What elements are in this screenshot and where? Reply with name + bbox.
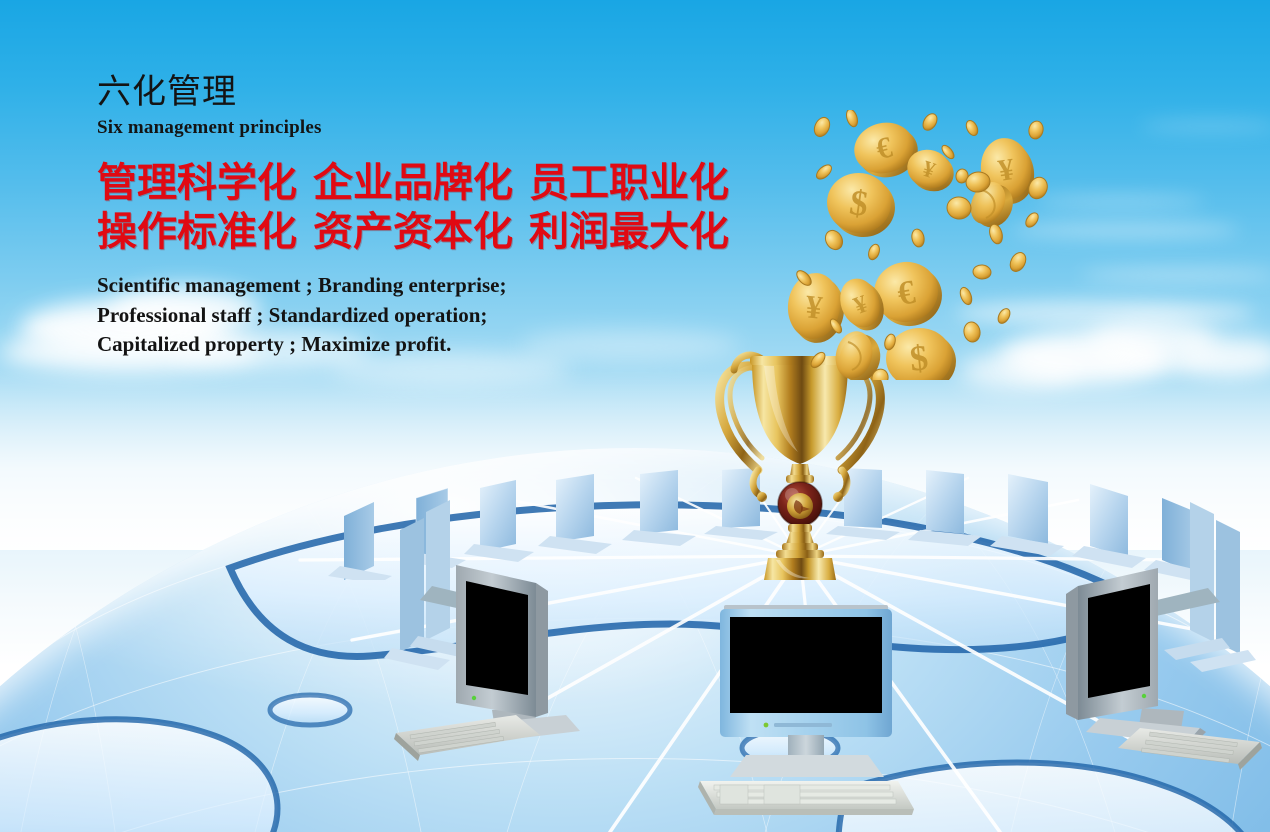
slogan-2-3: 利润最大化 — [529, 210, 729, 254]
slogan-line-2: 操作标准化资产资本化利润最大化 — [97, 208, 737, 257]
heading-english: Six management principles — [97, 117, 737, 139]
right-monitor — [1038, 556, 1270, 786]
power-led — [764, 723, 769, 728]
slogan-1-1: 管理科学化 — [97, 161, 297, 205]
english-line-2: Professional staff ; Standardized operat… — [97, 301, 737, 331]
slogan-2-2: 资产资本化 — [313, 210, 513, 254]
slogan-1-2: 企业品牌化 — [313, 161, 513, 205]
center-monitor — [690, 595, 920, 832]
poster-canvas: € ¥ ¥ $ € ¥ — [0, 0, 1270, 832]
control-strip — [774, 723, 832, 727]
english-line-3: Capitalized property ; Maximize profit. — [97, 330, 737, 360]
monitor-screen — [1088, 584, 1150, 698]
slogan-2-1: 操作标准化 — [97, 210, 297, 254]
slogan-1-3: 员工职业化 — [529, 161, 729, 205]
left-monitor — [388, 555, 638, 785]
poster-text-block: 六化管理 Six management principles 管理科学化企业品牌… — [97, 72, 737, 360]
mini-monitor — [990, 474, 1064, 556]
coin-dollar-2: $ — [883, 325, 959, 380]
power-led — [1142, 694, 1146, 698]
mini-monitor — [908, 470, 982, 546]
slogan-line-1: 管理科学化企业品牌化员工职业化 — [97, 159, 737, 208]
coin-yen-3: ¥ — [785, 270, 848, 345]
mini-monitor — [538, 474, 612, 554]
power-led — [472, 696, 476, 700]
mini-monitor — [622, 470, 696, 546]
monitor-stand — [788, 735, 824, 757]
monitor-foot — [730, 755, 884, 777]
monitor-screen — [466, 581, 528, 695]
monitor-screen — [730, 617, 882, 713]
english-line-1: Scientific management ; Branding enterpr… — [97, 271, 737, 301]
english-description: Scientific management ; Branding enterpr… — [97, 271, 737, 360]
falling-gold-coins: € ¥ ¥ $ € ¥ — [760, 110, 1060, 380]
heading-chinese: 六化管理 — [97, 72, 737, 112]
slogan-group: 管理科学化企业品牌化员工职业化 操作标准化资产资本化利润最大化 — [97, 159, 737, 257]
